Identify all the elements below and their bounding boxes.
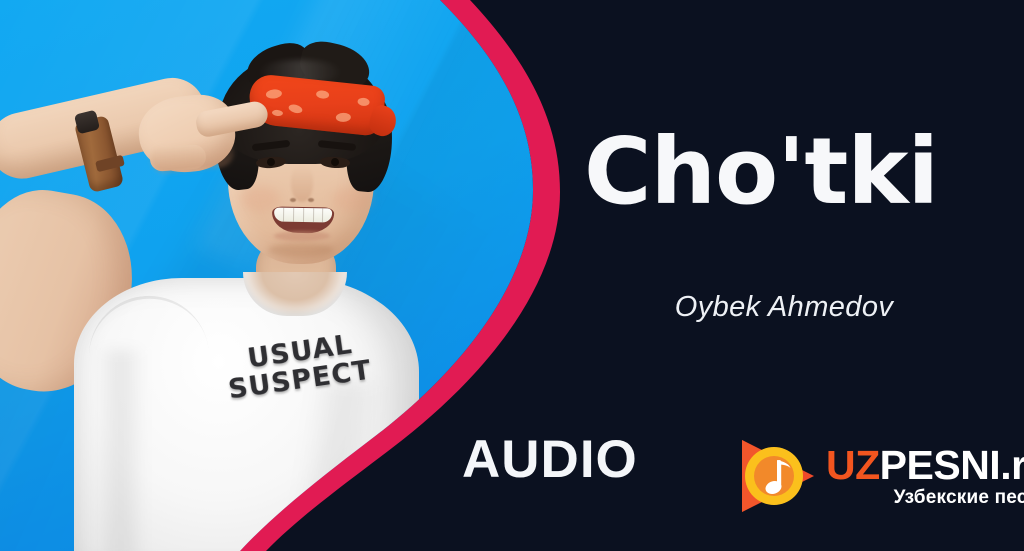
teeth-gaps bbox=[274, 207, 332, 222]
tshirt-fold bbox=[96, 350, 146, 551]
chin-shadow bbox=[268, 243, 334, 257]
artist-name: Oybek Ahmedov bbox=[584, 291, 984, 324]
logo-tagline: Узбекские песни bbox=[826, 488, 1024, 507]
nose bbox=[291, 166, 313, 202]
logo-brand-prefix: UZ bbox=[826, 442, 880, 488]
song-title: Cho'tki bbox=[584, 126, 984, 218]
uzpesni-logo[interactable]: UZPESNI.ru Узбекские песни bbox=[730, 428, 1016, 524]
logo-wordmark: UZPESNI.ru bbox=[826, 445, 1024, 486]
lower-lip bbox=[274, 231, 330, 241]
logo-text-block: UZPESNI.ru Узбекские песни bbox=[826, 445, 1024, 507]
nostril-left bbox=[290, 198, 296, 202]
audio-banner: USUAL SUSPECT bbox=[0, 0, 1024, 551]
media-type-label: AUDIO bbox=[462, 429, 638, 490]
logo-brand-suffix: PESNI.ru bbox=[880, 442, 1024, 488]
nostril-right bbox=[308, 198, 314, 202]
play-triangle-music-note-icon bbox=[730, 430, 822, 522]
